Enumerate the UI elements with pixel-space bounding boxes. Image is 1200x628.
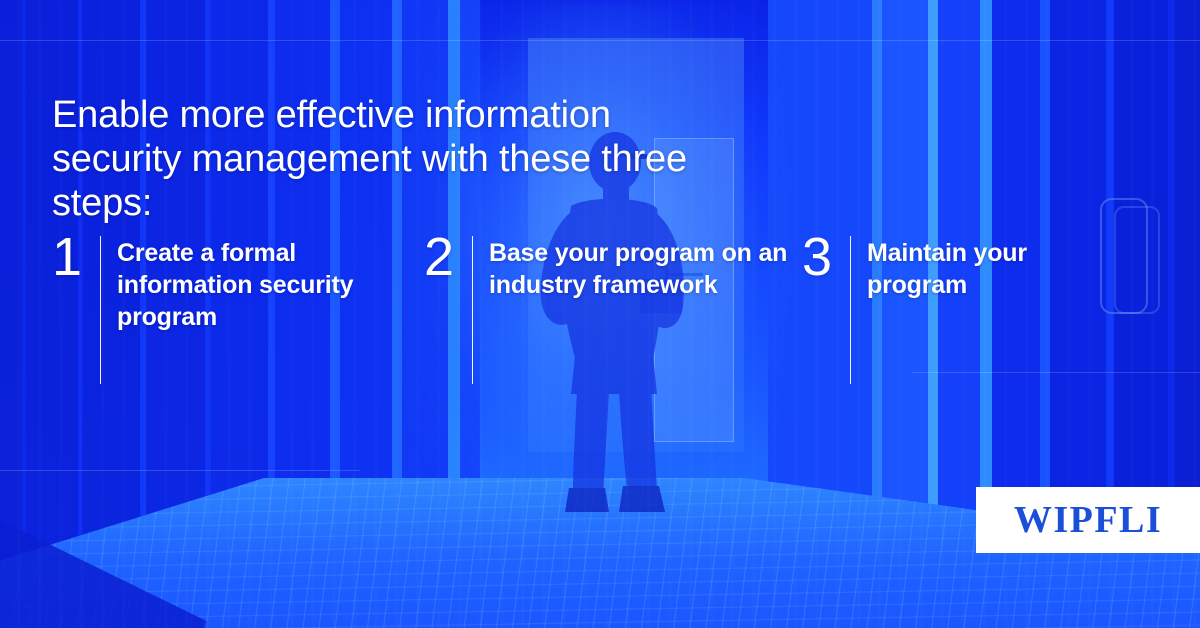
step-number-2: 2 [424, 230, 462, 284]
step-label-3: Maintain your program [867, 236, 1102, 301]
wipfli-logo: WIPFLI [976, 487, 1200, 553]
promo-graphic: Enable more effective information securi… [0, 0, 1200, 628]
step-label-2: Base your program on an industry framewo… [489, 236, 802, 301]
step-divider-3 [850, 236, 851, 384]
step-label-1: Create a formal information security pro… [117, 236, 424, 333]
step-number-1: 1 [52, 230, 90, 284]
wipfli-logo-text: WIPFLI [1014, 501, 1162, 539]
step-divider-2 [472, 236, 473, 384]
content-overlay: Enable more effective information securi… [0, 0, 1200, 628]
step-item-2: 2 Base your program on an industry frame… [424, 236, 802, 384]
step-item-1: 1 Create a formal information security p… [52, 236, 424, 384]
step-number-3: 3 [802, 230, 840, 284]
steps-list: 1 Create a formal information security p… [52, 236, 1152, 384]
step-divider-1 [100, 236, 101, 384]
step-item-3: 3 Maintain your program [802, 236, 1102, 384]
page-title: Enable more effective information securi… [52, 93, 732, 225]
